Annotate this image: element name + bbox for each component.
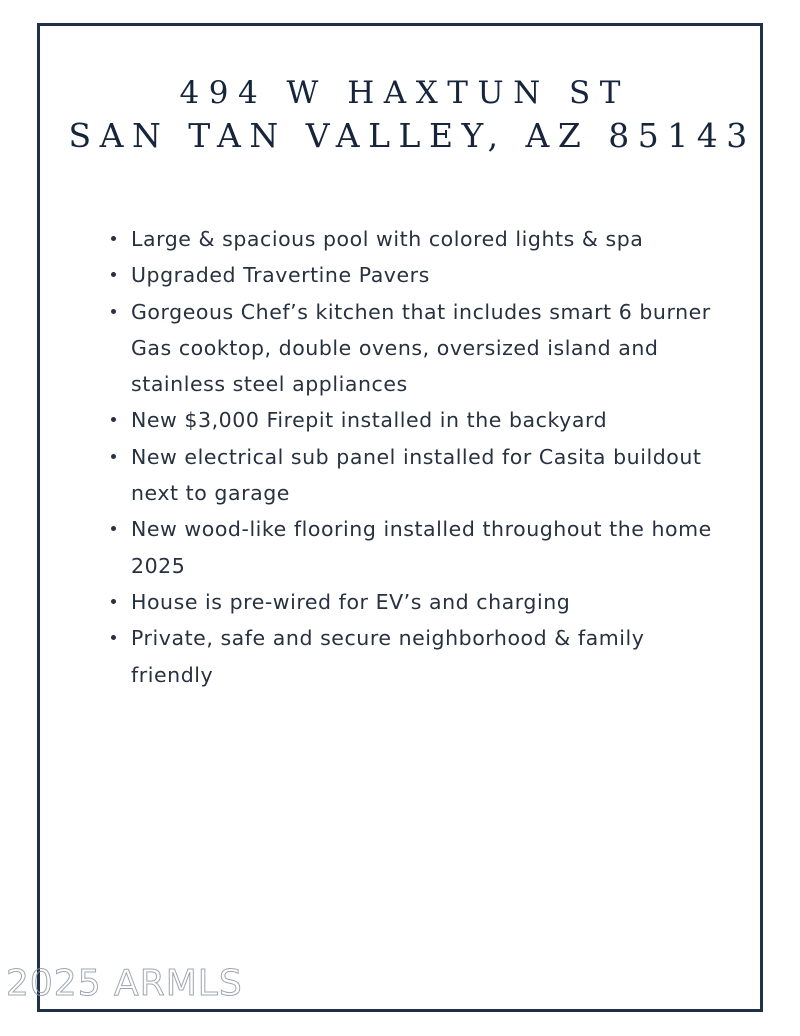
- list-item-label: Large & spacious pool with colored light…: [131, 227, 643, 251]
- list-item-label: New electrical sub panel installed for C…: [131, 445, 701, 505]
- list-item-label: New wood-like flooring installed through…: [131, 517, 712, 577]
- list-item: House is pre-wired for EV’s and charging: [108, 584, 733, 620]
- bullet-icon: [111, 272, 116, 277]
- bullet-icon: [111, 417, 116, 422]
- property-city-state-zip: SAN TAN VALLEY, AZ 85143: [60, 114, 740, 158]
- list-item: New electrical sub panel installed for C…: [108, 439, 733, 512]
- list-item-label: Private, safe and secure neighborhood & …: [131, 626, 644, 686]
- page-title: 494 W HAXTUN ST SAN TAN VALLEY, AZ 85143: [60, 72, 740, 158]
- list-item: Private, safe and secure neighborhood & …: [108, 620, 733, 693]
- flyer-page: 494 W HAXTUN ST SAN TAN VALLEY, AZ 85143…: [0, 0, 800, 1036]
- list-item: Large & spacious pool with colored light…: [108, 221, 733, 257]
- bullet-icon: [111, 454, 116, 459]
- list-item-label: New $3,000 Firepit installed in the back…: [131, 408, 607, 432]
- list-item-label: House is pre-wired for EV’s and charging: [131, 590, 570, 614]
- list-item: Upgraded Travertine Pavers: [108, 257, 733, 293]
- list-item: Gorgeous Chef’s kitchen that includes sm…: [108, 294, 733, 403]
- bullet-icon: [111, 635, 116, 640]
- property-features-list: Large & spacious pool with colored light…: [108, 221, 733, 693]
- list-item: New $3,000 Firepit installed in the back…: [108, 402, 733, 438]
- mls-watermark: 2025 ARMLS: [6, 963, 243, 1004]
- property-street-address: 494 W HAXTUN ST: [60, 72, 740, 114]
- bullet-icon: [111, 309, 116, 314]
- bullet-icon: [111, 236, 116, 241]
- bullet-icon: [111, 526, 116, 531]
- list-item-label: Gorgeous Chef’s kitchen that includes sm…: [131, 300, 711, 397]
- list-item: New wood-like flooring installed through…: [108, 511, 733, 584]
- list-item-label: Upgraded Travertine Pavers: [131, 263, 430, 287]
- bullet-icon: [111, 599, 116, 604]
